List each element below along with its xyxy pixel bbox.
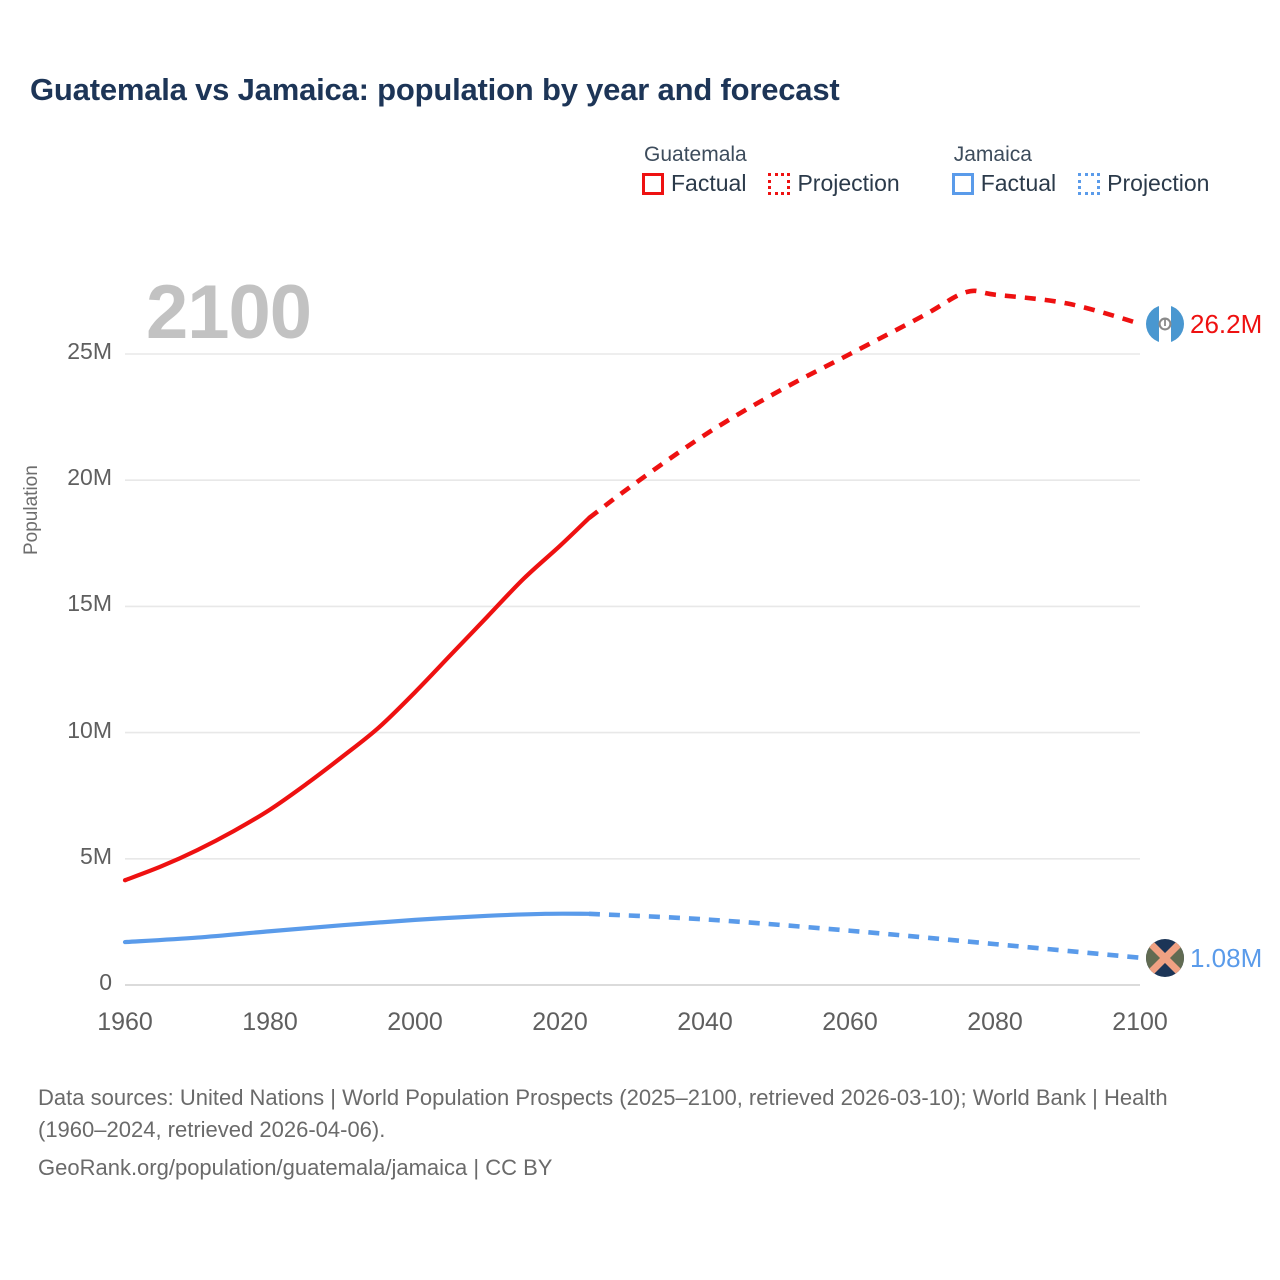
y-axis-tick-label: 10M	[67, 717, 112, 744]
end-label-value: 1.08M	[1190, 945, 1262, 971]
y-axis-tick-label: 20M	[67, 464, 112, 491]
y-axis-tick-label: 25M	[67, 338, 112, 365]
x-axis-tick-label: 2040	[677, 1008, 733, 1037]
line-jamaica-factual	[125, 914, 589, 942]
end-label-guatemala: 26.2M	[1146, 305, 1262, 343]
footer: Data sources: United Nations | World Pop…	[38, 1082, 1238, 1184]
chart-page: Guatemala vs Jamaica: population by year…	[0, 0, 1280, 1280]
footer-sources: Data sources: United Nations | World Pop…	[38, 1082, 1238, 1146]
end-label-jamaica: 1.08M	[1146, 939, 1262, 977]
x-axis-tick-label: 2080	[967, 1008, 1023, 1037]
line-jamaica-projection	[589, 914, 1140, 958]
x-axis-tick-label: 2060	[822, 1008, 878, 1037]
y-axis-tick-label: 5M	[80, 843, 112, 870]
y-axis-tick-label: 0	[99, 969, 112, 996]
x-axis-tick-label: 2000	[387, 1008, 443, 1037]
line-guatemala-projection	[589, 291, 1140, 518]
guatemala-flag-icon	[1146, 305, 1184, 343]
x-axis-tick-label: 1980	[242, 1008, 298, 1037]
jamaica-flag-icon	[1146, 939, 1184, 977]
line-guatemala-factual	[125, 518, 589, 880]
x-axis-tick-label: 1960	[97, 1008, 153, 1037]
x-axis-tick-label: 2020	[532, 1008, 588, 1037]
x-axis-tick-label: 2100	[1112, 1008, 1168, 1037]
footer-attribution: GeoRank.org/population/guatemala/jamaica…	[38, 1152, 1238, 1184]
y-axis-tick-label: 15M	[67, 590, 112, 617]
end-label-value: 26.2M	[1190, 311, 1262, 337]
